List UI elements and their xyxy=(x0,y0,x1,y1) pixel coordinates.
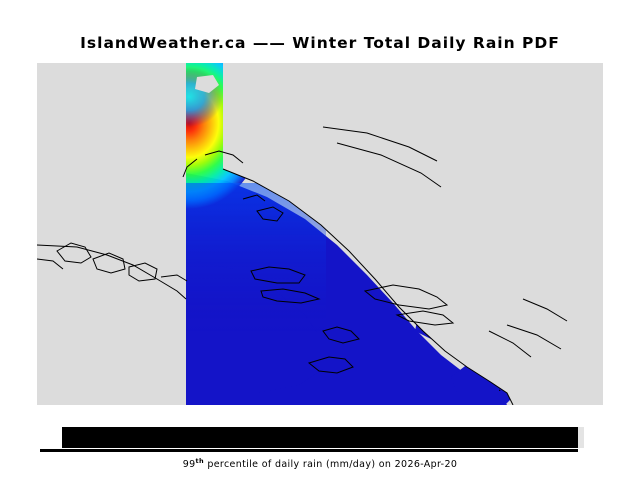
page-title: IslandWeather.ca —— Winter Total Daily R… xyxy=(0,34,640,52)
colorbar-end-cap xyxy=(578,427,584,448)
map-panel[interactable] xyxy=(37,63,603,405)
caption-text: percentile of daily rain (mm/day) on 202… xyxy=(204,459,457,470)
colorbar-caption: 99th percentile of daily rain (mm/day) o… xyxy=(0,457,640,470)
map-raster xyxy=(37,63,603,405)
coloured-water xyxy=(186,63,223,405)
colorbar[interactable] xyxy=(62,427,578,448)
screenshot-root: IslandWeather.ca —— Winter Total Daily R… xyxy=(0,0,640,480)
caption-percentile-suffix: th xyxy=(196,457,204,465)
colorbar-baseline xyxy=(40,449,578,452)
colorbar-fill xyxy=(62,427,578,448)
caption-percentile-number: 99 xyxy=(183,459,196,470)
